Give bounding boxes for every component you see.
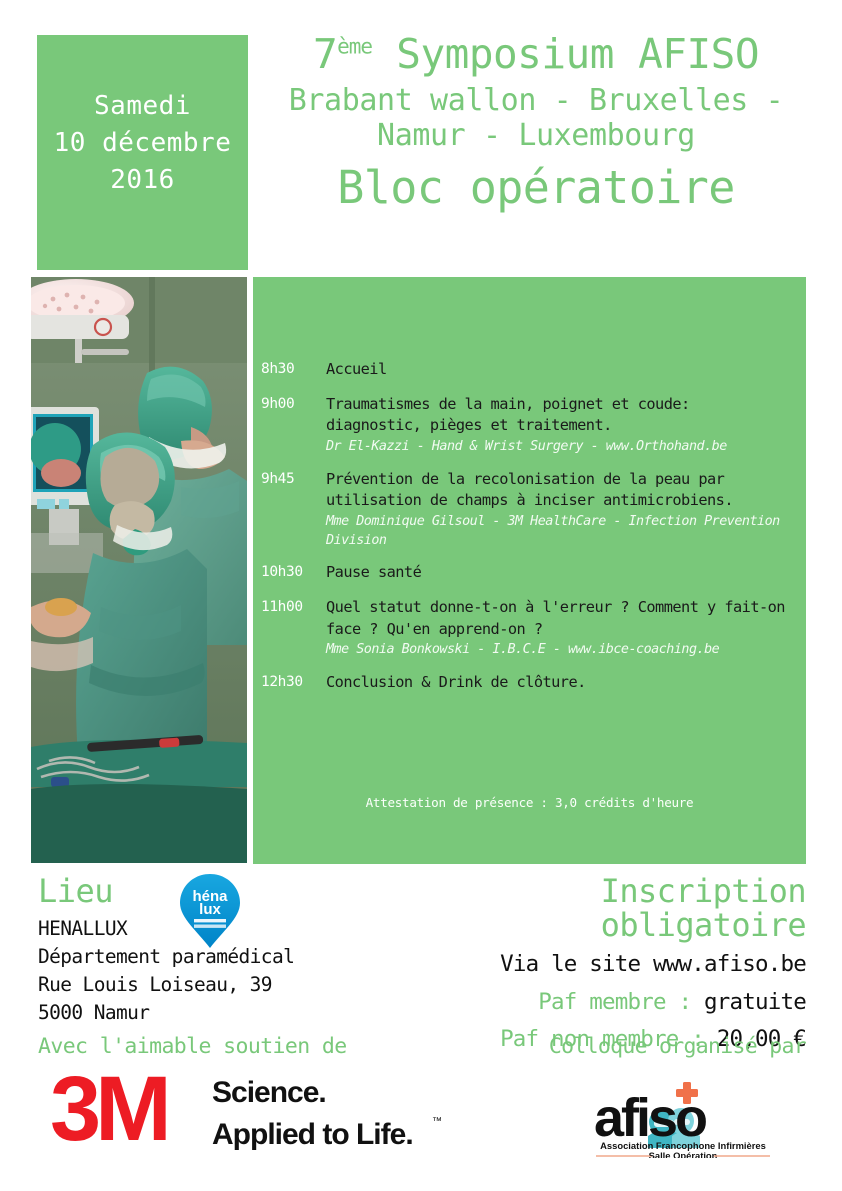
program-time: 9h00 xyxy=(253,394,326,457)
date-line-year: 2016 xyxy=(110,162,175,199)
program-title: Accueil xyxy=(326,359,790,381)
afiso-logo: afiso Association Francophone Infirmière… xyxy=(588,1074,778,1158)
program-row: 9h00 Traumatismes de la main, poignet et… xyxy=(253,394,806,457)
registration-block: Inscription obligatoire Via le site www.… xyxy=(386,875,806,1054)
3m-tagline-line1: Science. xyxy=(212,1076,326,1109)
3m-logo: 3M Science. Applied to Life. ™ xyxy=(50,1066,525,1154)
support-label: Avec l'aimable soutien de xyxy=(38,1034,347,1059)
program-desc: Accueil xyxy=(326,359,806,382)
fee-member-label: Paf membre : xyxy=(538,989,691,1015)
program-speaker: Mme Sonia Bonkowski - I.B.C.E - www.ibce… xyxy=(326,641,790,660)
registration-site: Via le site www.afiso.be xyxy=(386,949,806,979)
program-row: 11h00 Quel statut donne-t-on à l'erreur … xyxy=(253,597,806,660)
program-time: 10h30 xyxy=(253,562,326,585)
program-panel: 8h30 Accueil 9h00 Traumatismes de la mai… xyxy=(253,277,806,864)
program-time: 9h45 xyxy=(253,469,326,550)
henallux-logo-line2: lux xyxy=(199,901,221,918)
program-time: 12h30 xyxy=(253,672,326,695)
3m-tagline-line2: Applied to Life. xyxy=(212,1118,413,1151)
program-title: Conclusion & Drink de clôture. xyxy=(326,672,790,694)
3m-logo-mark: 3M xyxy=(50,1066,166,1154)
program-desc: Conclusion & Drink de clôture. xyxy=(326,672,806,695)
attestation-note: Attestation de présence : 3,0 crédits d'… xyxy=(253,795,806,810)
page-title: 7ème Symposium AFISO xyxy=(256,34,816,75)
program-desc: Pause santé xyxy=(326,562,806,585)
program-speaker: Dr El-Kazzi - Hand & Wrist Surgery - www… xyxy=(326,438,790,457)
registration-heading: Inscription obligatoire xyxy=(386,875,806,942)
program-title: Quel statut donne-t-on à l'erreur ? Comm… xyxy=(326,597,790,640)
program-speaker: Mme Dominique Gilsoul - 3M HealthCare - … xyxy=(326,513,790,550)
poster-header: 7ème Symposium AFISO Brabant wallon - Br… xyxy=(256,34,816,270)
subtitle-regions-line2: Namur - Luxembourg xyxy=(256,119,816,154)
program-title: Prévention de la recolonisation de la pe… xyxy=(326,469,790,512)
afiso-wordmark: afiso xyxy=(594,1088,706,1148)
fee-member-value: gratuite xyxy=(704,989,806,1015)
date-line-day-month: 10 décembre xyxy=(54,125,232,162)
afiso-subtitle-2: Salle Opération xyxy=(649,1150,718,1158)
program-row: 10h30 Pause santé xyxy=(253,562,806,585)
program-row: 12h30 Conclusion & Drink de clôture. xyxy=(253,672,806,695)
title-ordinal-suffix: ème xyxy=(337,34,372,58)
subtitle-regions-line1: Brabant wallon - Bruxelles - xyxy=(256,84,816,119)
fee-member-row: Paf membre : gratuite xyxy=(386,987,806,1017)
program-row: 8h30 Accueil xyxy=(253,359,806,382)
title-ordinal: 7 xyxy=(313,30,337,78)
venue-address-line: 5000 Namur xyxy=(38,999,398,1027)
operating-room-photo xyxy=(31,277,247,863)
organiser-label: Colloque organisé par xyxy=(549,1034,806,1059)
program-desc: Traumatismes de la main, poignet et coud… xyxy=(326,394,806,457)
henallux-logo: héna lux xyxy=(178,872,242,950)
date-block: Samedi 10 décembre 2016 xyxy=(37,35,248,270)
program-desc: Prévention de la recolonisation de la pe… xyxy=(326,469,806,550)
program-row: 9h45 Prévention de la recolonisation de … xyxy=(253,469,806,550)
title-main: Symposium AFISO xyxy=(372,30,759,78)
venue-address-line: Rue Louis Loiseau, 39 xyxy=(38,971,398,999)
program-time: 11h00 xyxy=(253,597,326,660)
program-title: Pause santé xyxy=(326,562,790,584)
program-title: Traumatismes de la main, poignet et coud… xyxy=(326,394,790,437)
subtitle-theme: Bloc opératoire xyxy=(256,162,816,214)
program-desc: Quel statut donne-t-on à l'erreur ? Comm… xyxy=(326,597,806,660)
date-line-weekday: Samedi xyxy=(94,88,191,125)
3m-trademark-icon: ™ xyxy=(432,1116,442,1127)
program-time: 8h30 xyxy=(253,359,326,382)
program-rows: 8h30 Accueil 9h00 Traumatismes de la mai… xyxy=(253,359,806,706)
